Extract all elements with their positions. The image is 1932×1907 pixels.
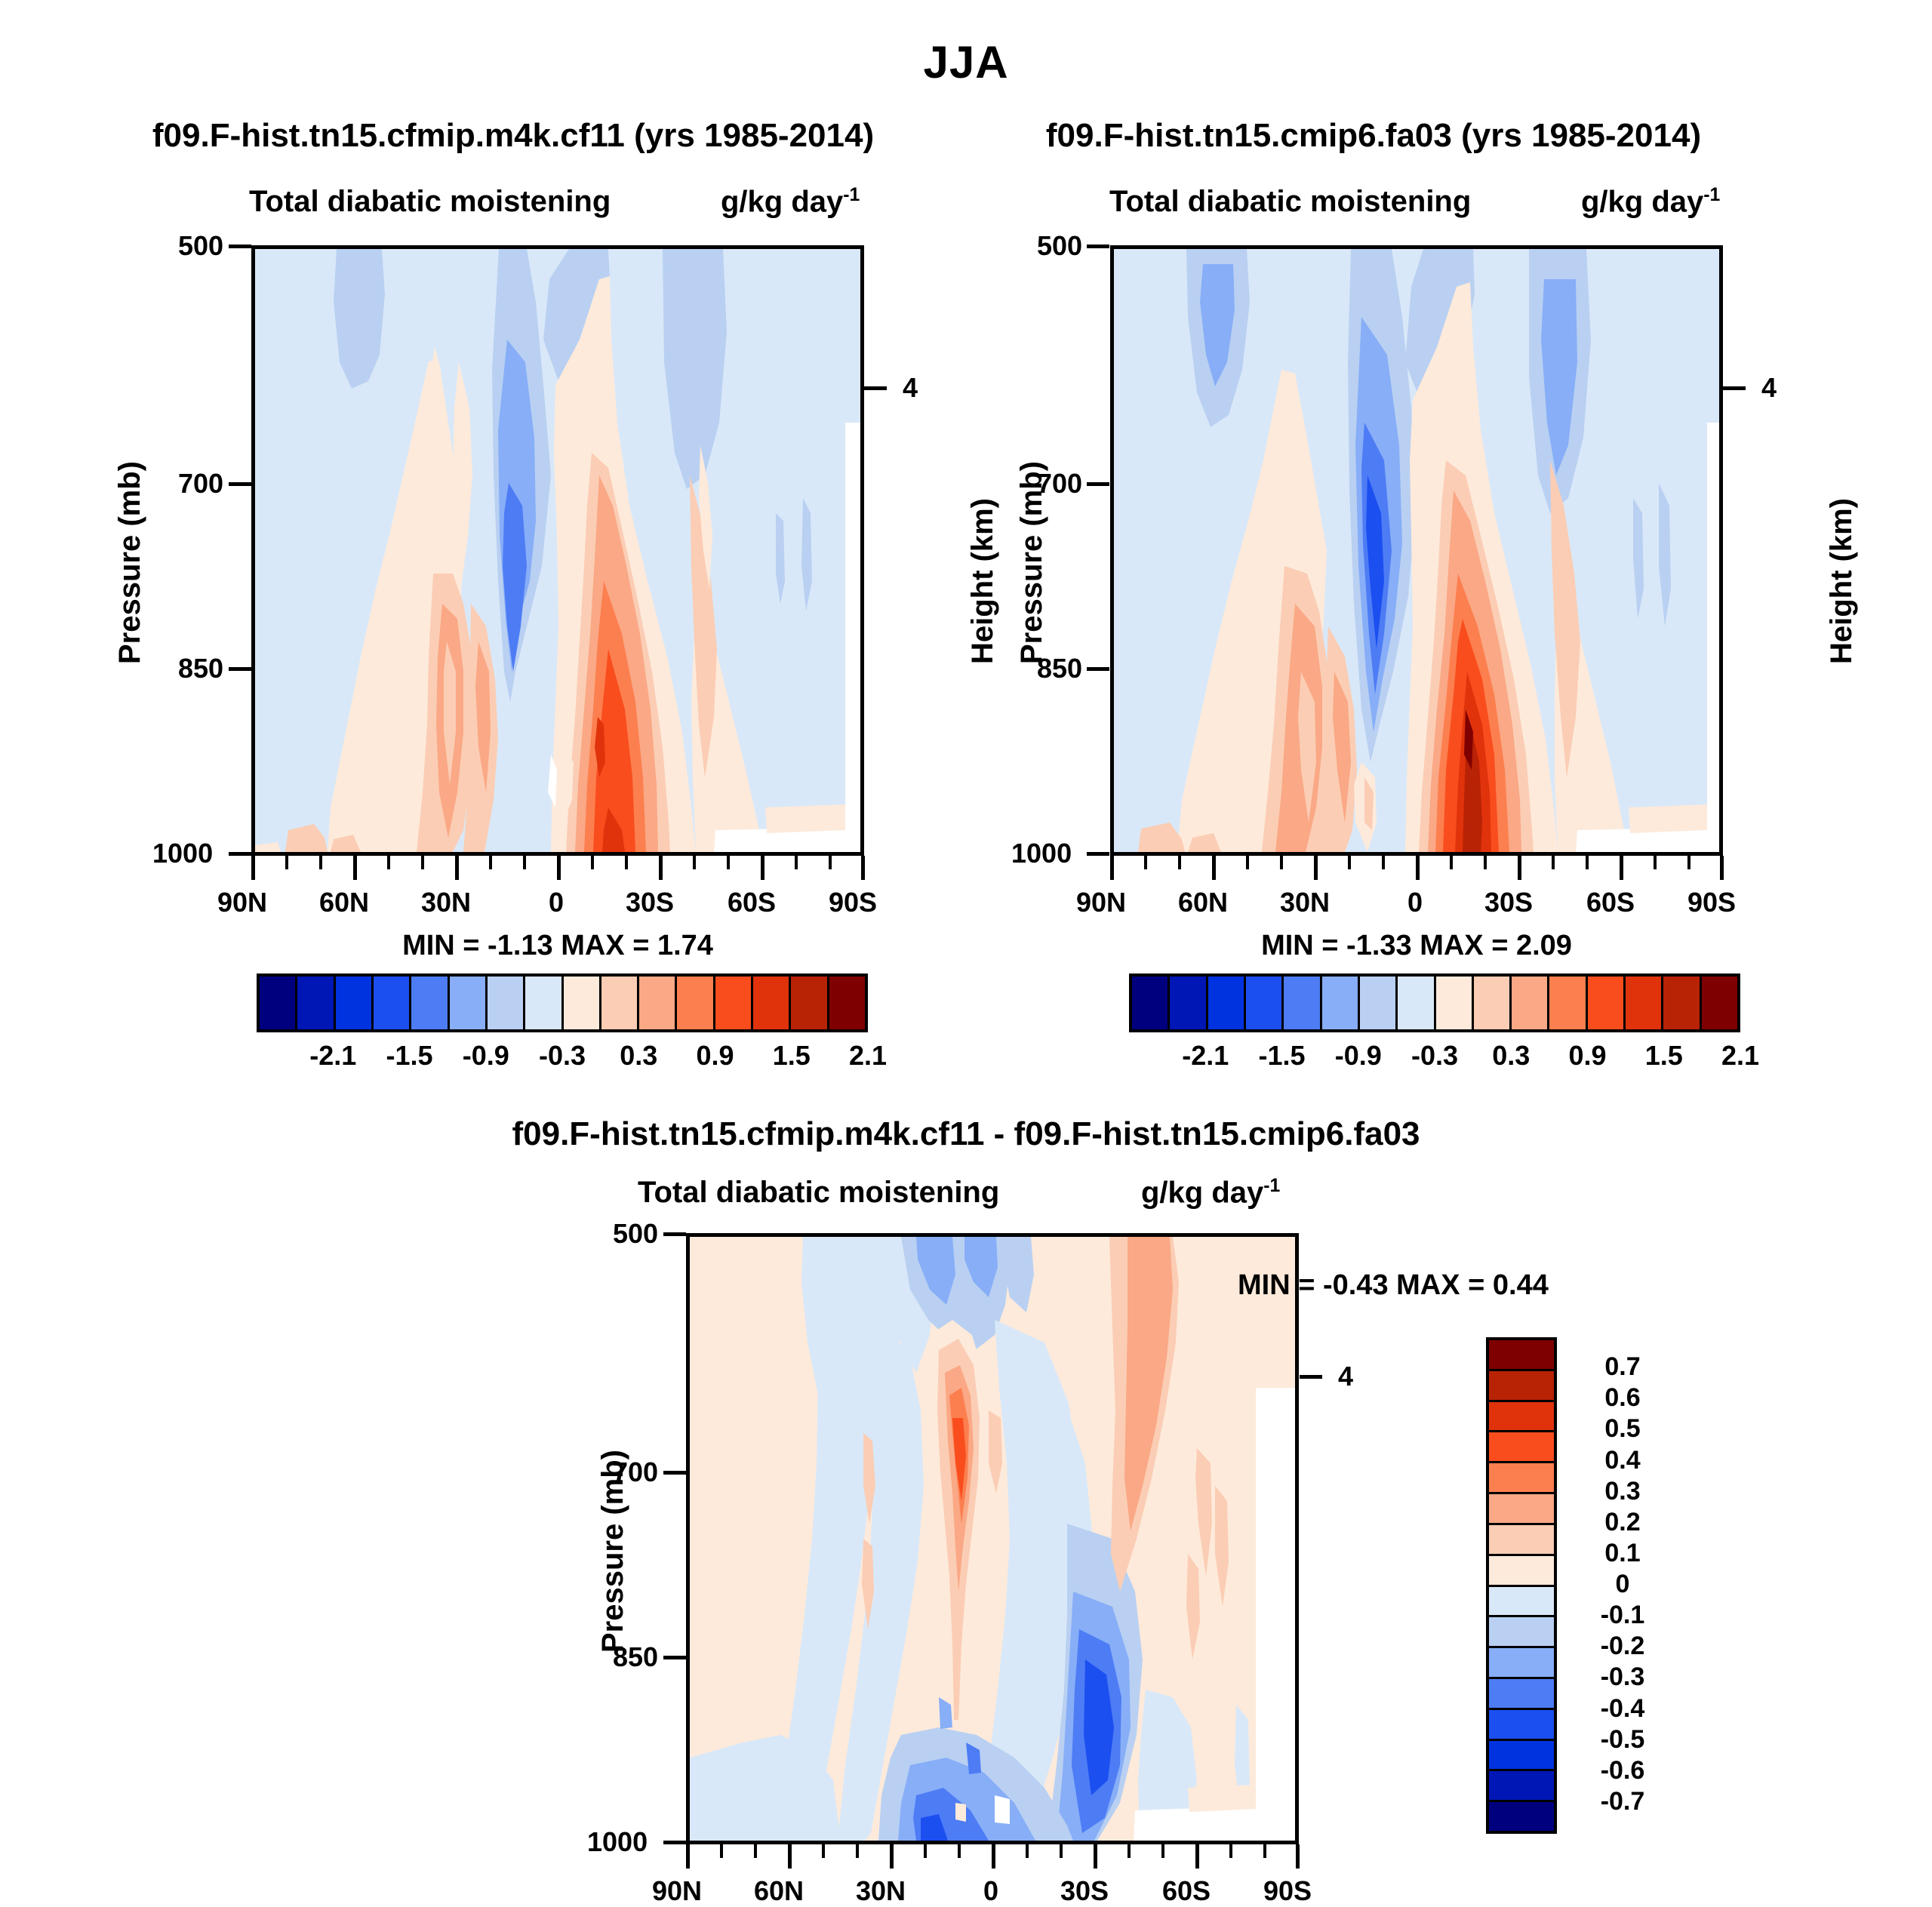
x-tickmark-90S-p1	[861, 856, 865, 880]
vcolorbar-tick-label-1: 0.6	[1566, 1383, 1679, 1413]
field-name-bottom-diff: Total diabatic moistening	[638, 1176, 999, 1210]
vcolorbar-tick-label-9: -0.2	[1566, 1632, 1679, 1661]
colorbar-tick-label-2: -0.9	[453, 1040, 519, 1072]
x-tick-90S-p2: 90S	[1687, 887, 1736, 918]
x-tickmark-30S-p1	[659, 856, 663, 880]
x-tickmark-90N-p1	[251, 856, 255, 880]
x-tick-90N-p2: 90N	[1076, 887, 1126, 918]
y-tick-850-p1: 850	[178, 653, 223, 684]
vcolorbar-tick-label-10: -0.3	[1566, 1662, 1679, 1692]
x-minor-p3-c	[822, 1844, 825, 1858]
y-tickmark-1000-p1	[229, 852, 251, 856]
colorbar-top-left[interactable]	[257, 973, 868, 1032]
x-tickmark-30S-p2	[1518, 856, 1521, 880]
y-tickmark-850-p1	[229, 667, 251, 671]
figure-title: JJA	[0, 36, 1932, 88]
x-minor-p3-e	[924, 1844, 927, 1858]
x-tick-60S-p1: 60S	[728, 887, 776, 918]
y-tick-850-p2: 850	[1037, 653, 1082, 684]
height-tickmark-p1	[864, 386, 887, 390]
y-tick-500-p2: 500	[1037, 230, 1082, 262]
colorbar-cell-5	[1322, 977, 1360, 1029]
x-minor-p1-i	[693, 856, 696, 869]
x-tickmark-30S-p3	[1094, 1844, 1097, 1869]
x-tickmark-0-p1	[557, 856, 561, 880]
colorbar-cell-2	[1208, 977, 1246, 1029]
x-tickmark-30N-p2	[1314, 856, 1318, 880]
colorbar-cell-10	[639, 977, 677, 1029]
y-tick-700-p2: 700	[1037, 468, 1082, 500]
vcolorbar-cell-15	[1489, 1802, 1554, 1831]
vcolorbar-tick-label-3: 0.4	[1566, 1446, 1679, 1475]
colorbar-tick-label-1: -1.5	[377, 1040, 443, 1072]
x-tick-60S-p3: 60S	[1162, 1875, 1211, 1907]
vcolorbar-tick-label-11: -0.4	[1566, 1694, 1679, 1724]
colorbar-tick-label-0: -2.1	[300, 1040, 366, 1072]
vcolorbar-cell-5	[1489, 1494, 1554, 1525]
x-minor-p3-a	[720, 1844, 723, 1858]
x-minor-p2-a	[1144, 856, 1147, 869]
panel-title-bottom-diff: f09.F-hist.tn15.cfmip.m4k.cf11 - f09.F-h…	[249, 1115, 1683, 1153]
colorbar-tick-label-3: -0.3	[529, 1040, 595, 1072]
x-tick-60N-p3: 60N	[754, 1875, 804, 1907]
x-minor-p2-g	[1450, 856, 1453, 869]
colorbar-cell-12	[1588, 977, 1626, 1029]
x-tickmark-60N-p1	[353, 856, 357, 880]
vcolorbar-cell-1	[1489, 1371, 1554, 1402]
colorbar-cell-13	[1626, 977, 1663, 1029]
vcolorbar-tick-label-8: -0.1	[1566, 1601, 1679, 1630]
x-tickmark-60S-p3	[1195, 1844, 1199, 1869]
x-tickmark-60N-p2	[1212, 856, 1216, 880]
colorbar-tick-label-7: 2.1	[1707, 1040, 1774, 1072]
y-tickmark-1000-p3	[663, 1841, 686, 1844]
x-tickmark-90N-p2	[1110, 856, 1114, 880]
y-tickmark-700-p2	[1087, 482, 1109, 486]
vcolorbar-cell-13	[1489, 1741, 1554, 1772]
y-tickmark-850-p2	[1087, 667, 1109, 671]
x-minor-p2-f	[1382, 856, 1385, 869]
vcolorbar-cell-11	[1489, 1679, 1554, 1710]
colorbar-tick-label-4: 0.3	[1478, 1040, 1544, 1072]
x-tickmark-60N-p3	[788, 1844, 792, 1869]
x-tick-30S-p1: 30S	[626, 887, 674, 918]
vcolorbar-cell-12	[1489, 1710, 1554, 1741]
y-tick-1000-p3: 1000	[587, 1826, 648, 1858]
colorbar-top-right[interactable]	[1129, 973, 1740, 1032]
x-minor-p1-c	[387, 856, 390, 869]
x-tickmark-90N-p3	[686, 1844, 690, 1869]
height-tickmark-p3	[1300, 1375, 1322, 1379]
vcolorbar-tick-label-2: 0.5	[1566, 1414, 1679, 1444]
panel-title-top-left: f09.F-hist.tn15.cfmip.m4k.cf11 (yrs 1985…	[83, 117, 943, 155]
colorbar-tick-label-3: -0.3	[1401, 1040, 1468, 1072]
y-tick-500-p3: 500	[613, 1218, 658, 1250]
x-minor-p1-g	[591, 856, 594, 869]
colorbar-labels-top-right: -2.1-1.5-0.9-0.30.30.91.52.1	[1129, 1040, 1740, 1078]
x-minor-p2-j	[1586, 856, 1589, 869]
colorbar-cell-5	[450, 977, 488, 1029]
x-minor-p1-b	[319, 856, 322, 869]
x-minor-p3-h	[1060, 1844, 1063, 1858]
y-tick-700-p3: 700	[613, 1456, 658, 1488]
vcolorbar-cell-9	[1489, 1617, 1554, 1648]
field-name-top-left: Total diabatic moistening	[249, 185, 611, 219]
minmax-top-left: MIN = -1.13 MAX = 1.74	[251, 930, 864, 962]
vcolorbar-tick-label-0: 0.7	[1566, 1352, 1679, 1382]
vcolorbar-cell-7	[1489, 1556, 1554, 1587]
units-base: g/kg day	[721, 185, 843, 218]
vcolorbar-cell-3	[1489, 1432, 1554, 1463]
units-top-left: g/kg day-1	[721, 185, 860, 219]
colorbar-cell-15	[829, 977, 865, 1029]
contour-plot-top-left[interactable]	[251, 245, 864, 856]
vcolorbar-tick-label-4: 0.3	[1566, 1477, 1679, 1506]
units-exponent-2: -1	[1703, 185, 1720, 205]
vcolorbar-cell-2	[1489, 1402, 1554, 1433]
height-tickmark-p2	[1723, 386, 1746, 390]
x-tickmark-0-p3	[992, 1844, 995, 1869]
colorbar-tick-label-6: 1.5	[1631, 1040, 1697, 1072]
x-tick-60N-p1: 60N	[319, 887, 369, 918]
x-minor-p1-a	[285, 856, 288, 869]
vcolorbar-cell-6	[1489, 1525, 1554, 1556]
x-minor-p3-j	[1161, 1844, 1164, 1858]
x-minor-p2-i	[1552, 856, 1555, 869]
colorbar-cell-6	[1360, 977, 1398, 1029]
x-tickmark-60S-p1	[761, 856, 764, 880]
x-minor-p1-d	[421, 856, 424, 869]
units-exponent-3: -1	[1263, 1176, 1280, 1196]
x-tick-90N-p1: 90N	[217, 887, 267, 918]
colorbar-cell-4	[1284, 977, 1321, 1029]
colorbar-cell-3	[374, 977, 411, 1029]
colorbar-cell-14	[1663, 977, 1701, 1029]
contour-svg-p2	[1114, 249, 1719, 852]
x-tick-90S-p3: 90S	[1263, 1875, 1312, 1907]
colorbar-tick-label-7: 2.1	[835, 1040, 901, 1072]
x-tick-90N-p3: 90N	[652, 1875, 702, 1907]
y-tickmark-500-p1	[229, 245, 251, 248]
field-name-top-right: Total diabatic moistening	[1109, 185, 1471, 219]
vcolorbar-tick-label-7: 0	[1566, 1570, 1679, 1599]
x-minor-p1-l	[829, 856, 832, 869]
vcolorbar-tick-label-14: -0.7	[1566, 1787, 1679, 1816]
colorbar-tick-label-5: 0.9	[1555, 1040, 1621, 1072]
y-tick-1000-p1: 1000	[152, 838, 213, 869]
colorbar-cell-0	[1132, 977, 1170, 1029]
colorbar-cell-12	[715, 977, 753, 1029]
contour-plot-bottom-diff[interactable]	[686, 1233, 1299, 1844]
x-minor-p2-c	[1246, 856, 1249, 869]
x-tick-0-p3: 0	[983, 1875, 998, 1907]
colorbar-cell-13	[753, 977, 791, 1029]
x-tickmark-60S-p2	[1620, 856, 1623, 880]
units-base-2: g/kg day	[1581, 185, 1703, 218]
minmax-top-right: MIN = -1.33 MAX = 2.09	[1110, 930, 1723, 962]
x-minor-p3-k	[1229, 1844, 1232, 1858]
vcolorbar-tick-label-5: 0.2	[1566, 1508, 1679, 1537]
x-tick-30N-p1: 30N	[421, 887, 471, 918]
colorbar-tick-label-2: -0.9	[1325, 1040, 1392, 1072]
colorbar-cell-14	[791, 977, 829, 1029]
units-base-3: g/kg day	[1141, 1176, 1263, 1209]
colorbar-cell-3	[1246, 977, 1284, 1029]
contour-plot-top-right[interactable]	[1110, 245, 1723, 856]
x-tickmark-90S-p3	[1296, 1844, 1300, 1869]
y-tickmark-500-p2	[1087, 245, 1109, 248]
y-axis-label-top-left: Pressure (mb)	[113, 461, 147, 664]
units-bottom-diff: g/kg day-1	[1141, 1176, 1280, 1210]
y-tick-700-p1: 700	[178, 468, 223, 500]
vcolorbar-cell-8	[1489, 1587, 1554, 1618]
colorbar-tick-label-5: 0.9	[682, 1040, 749, 1072]
x-minor-p3-d	[856, 1844, 859, 1858]
vcolorbar-cell-0	[1489, 1340, 1554, 1371]
height-tick-label-p3: 4	[1338, 1361, 1353, 1392]
colorbar-cell-9	[1474, 977, 1512, 1029]
height-axis-label-p1: Height (km)	[966, 498, 1000, 664]
y-tickmark-1000-p2	[1087, 852, 1109, 856]
colorbar-vertical-labels: 0.70.60.50.40.30.20.10-0.1-0.2-0.3-0.4-0…	[1566, 1337, 1717, 1834]
height-tick-label-p1: 4	[903, 372, 918, 404]
colorbar-cell-2	[336, 977, 374, 1029]
x-tickmark-30N-p1	[455, 856, 459, 880]
x-tick-30S-p3: 30S	[1060, 1875, 1109, 1907]
vcolorbar-tick-label-13: -0.6	[1566, 1756, 1679, 1786]
x-tick-60S-p2: 60S	[1586, 887, 1635, 918]
colorbar-cell-1	[297, 977, 335, 1029]
vcolorbar-cell-4	[1489, 1463, 1554, 1494]
y-tickmark-700-p3	[663, 1471, 686, 1475]
x-minor-p2-e	[1348, 856, 1351, 869]
colorbar-cell-9	[601, 977, 639, 1029]
x-tickmark-90S-p2	[1720, 856, 1724, 880]
units-exponent: -1	[843, 185, 860, 205]
colorbar-cell-1	[1170, 977, 1207, 1029]
colorbar-cell-6	[488, 977, 525, 1029]
y-tick-1000-p2: 1000	[1011, 838, 1072, 869]
x-tick-30S-p2: 30S	[1484, 887, 1533, 918]
x-minor-p1-j	[727, 856, 730, 869]
x-tick-0-p1: 0	[549, 887, 564, 918]
x-tick-90S-p1: 90S	[829, 887, 877, 918]
x-minor-p2-k	[1654, 856, 1657, 869]
x-minor-p2-l	[1687, 856, 1690, 869]
colorbar-cell-7	[525, 977, 563, 1029]
x-minor-p1-e	[489, 856, 492, 869]
y-tick-850-p3: 850	[613, 1641, 658, 1673]
x-tickmark-30N-p3	[890, 1844, 894, 1869]
colorbar-tick-label-0: -2.1	[1172, 1040, 1238, 1072]
height-tick-label-p2: 4	[1761, 372, 1777, 404]
x-minor-p1-f	[523, 856, 526, 869]
colorbar-cell-4	[411, 977, 449, 1029]
x-minor-p1-h	[625, 856, 628, 869]
x-tick-30N-p3: 30N	[856, 1875, 906, 1907]
x-tick-30N-p2: 30N	[1280, 887, 1330, 918]
y-tickmark-700-p1	[229, 482, 251, 486]
colorbar-cell-15	[1702, 977, 1737, 1029]
x-minor-p3-i	[1128, 1844, 1131, 1858]
vcolorbar-tick-label-12: -0.5	[1566, 1725, 1679, 1755]
y-tick-500-p1: 500	[178, 230, 223, 262]
y-tickmark-850-p3	[663, 1656, 686, 1659]
colorbar-tick-label-6: 1.5	[758, 1040, 825, 1072]
colorbar-cell-0	[260, 977, 297, 1029]
contour-svg-p1	[255, 249, 860, 852]
colorbar-cell-8	[564, 977, 601, 1029]
x-minor-p3-b	[754, 1844, 757, 1858]
x-minor-p1-k	[795, 856, 798, 869]
vcolorbar-cell-10	[1489, 1648, 1554, 1679]
x-minor-p3-f	[958, 1844, 961, 1858]
x-minor-p2-h	[1484, 856, 1487, 869]
x-minor-p2-b	[1178, 856, 1181, 869]
contour-svg-p3	[690, 1237, 1295, 1841]
y-tickmark-500-p3	[663, 1232, 686, 1236]
colorbar-tick-label-1: -1.5	[1249, 1040, 1315, 1072]
colorbar-cell-10	[1512, 977, 1549, 1029]
panel-title-top-right: f09.F-hist.tn15.cmip6.fa03 (yrs 1985-201…	[943, 117, 1804, 155]
x-minor-p3-g	[1026, 1844, 1029, 1858]
x-tickmark-0-p2	[1416, 856, 1420, 880]
units-top-right: g/kg day-1	[1581, 185, 1720, 219]
colorbar-cell-11	[1549, 977, 1587, 1029]
height-axis-label-p2: Height (km)	[1825, 498, 1859, 664]
vcolorbar-tick-label-6: 0.1	[1566, 1539, 1679, 1568]
colorbar-cell-8	[1436, 977, 1474, 1029]
x-tick-0-p2: 0	[1407, 887, 1423, 918]
x-tick-60N-p2: 60N	[1178, 887, 1228, 918]
colorbar-tick-label-4: 0.3	[605, 1040, 672, 1072]
colorbar-vertical-diff[interactable]	[1486, 1337, 1557, 1834]
x-minor-p3-l	[1263, 1844, 1266, 1858]
vcolorbar-cell-14	[1489, 1771, 1554, 1802]
colorbar-cell-11	[677, 977, 715, 1029]
x-minor-p2-d	[1280, 856, 1283, 869]
minmax-bottom-diff: MIN = -0.43 MAX = 0.44	[1238, 1269, 1549, 1302]
colorbar-cell-7	[1398, 977, 1435, 1029]
colorbar-labels-top-left: -2.1-1.5-0.9-0.30.30.91.52.1	[257, 1040, 868, 1078]
